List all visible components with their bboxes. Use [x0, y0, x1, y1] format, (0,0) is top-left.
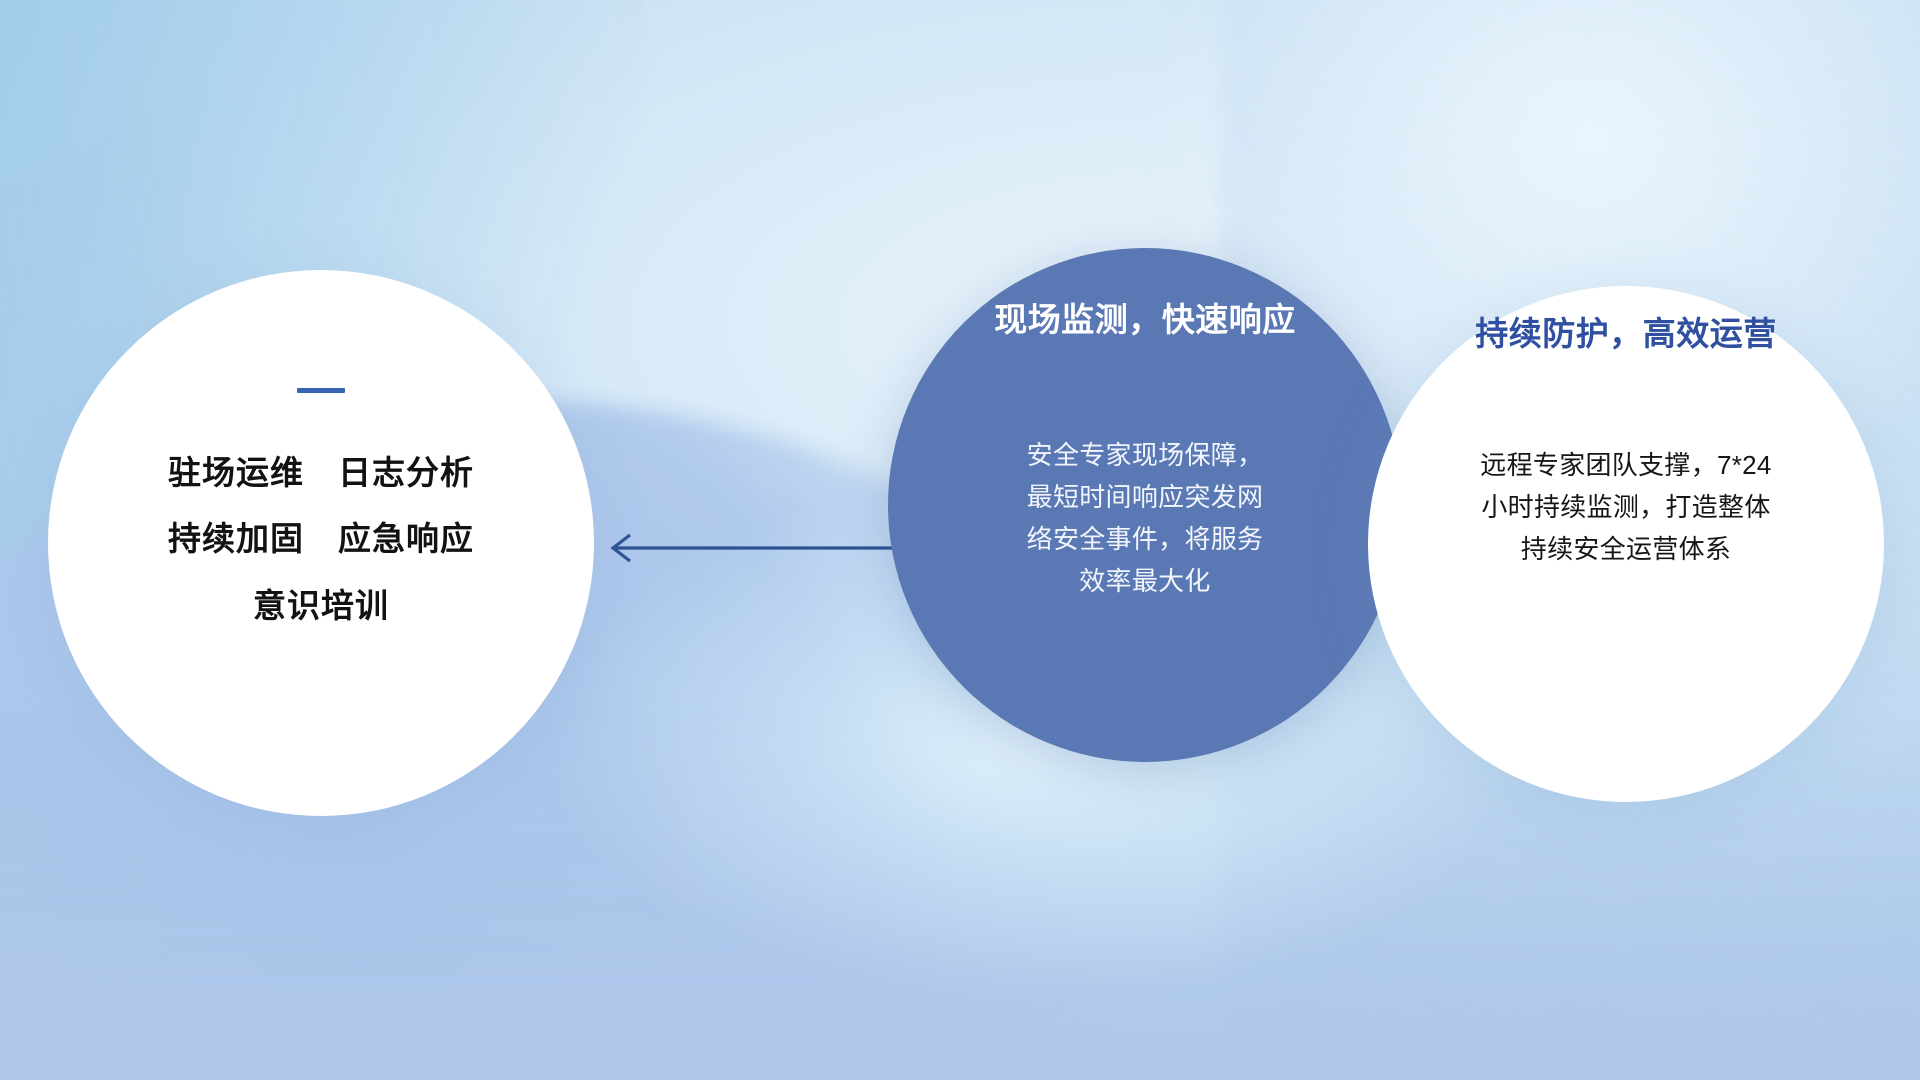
right-circle-title: 持续防护，高效运营 — [1394, 314, 1858, 354]
middle-onsite-circle[interactable]: 现场监测，快速响应 安全专家现场保障， 最短时间响应突发网 络安全事件，将服务 … — [888, 248, 1402, 762]
keyword-row: 持续加固 应急响应 — [48, 521, 594, 557]
left-circle-content: 驻场运维 日志分析 持续加固 应急响应 意识培训 — [48, 388, 594, 624]
body-line: 持续安全运营体系 — [1394, 528, 1858, 570]
middle-circle-body: 安全专家现场保障， 最短时间响应突发网 络安全事件，将服务 效率最大化 — [912, 434, 1378, 602]
body-line: 最短时间响应突发网 — [912, 476, 1378, 518]
keyword-item: 持续加固 — [168, 521, 304, 557]
body-line: 小时持续监测，打造整体 — [1394, 486, 1858, 528]
slide-canvas: 驻场运维 日志分析 持续加固 应急响应 意识培训 现场监测，快速响应 安全专家现… — [0, 0, 1920, 1080]
middle-circle-content: 现场监测，快速响应 安全专家现场保障， 最短时间响应突发网 络安全事件，将服务 … — [888, 300, 1402, 602]
keyword-item: 应急响应 — [338, 521, 474, 557]
body-line: 远程专家团队支撑，7*24 — [1394, 444, 1858, 486]
middle-circle-title: 现场监测，快速响应 — [912, 300, 1378, 340]
body-line: 安全专家现场保障， — [912, 434, 1378, 476]
left-capability-circle[interactable]: 驻场运维 日志分析 持续加固 应急响应 意识培训 — [48, 270, 594, 816]
keyword-item: 意识培训 — [253, 587, 389, 624]
right-circle-content: 持续防护，高效运营 远程专家团队支撑，7*24 小时持续监测，打造整体 持续安全… — [1368, 314, 1884, 570]
keyword-item: 日志分析 — [338, 455, 474, 491]
body-line: 络安全事件，将服务 — [912, 518, 1378, 560]
keyword-row: 意识培训 — [48, 588, 594, 624]
right-circle-body: 远程专家团队支撑，7*24 小时持续监测，打造整体 持续安全运营体系 — [1394, 444, 1858, 570]
keyword-row: 驻场运维 日志分析 — [48, 455, 594, 491]
left-arrow-icon — [600, 516, 900, 580]
right-continuous-protection-circle[interactable]: 持续防护，高效运营 远程专家团队支撑，7*24 小时持续监测，打造整体 持续安全… — [1368, 286, 1884, 802]
keyword-item: 驻场运维 — [168, 455, 304, 491]
body-line: 效率最大化 — [912, 560, 1378, 602]
short-dash-divider-icon — [297, 388, 345, 393]
